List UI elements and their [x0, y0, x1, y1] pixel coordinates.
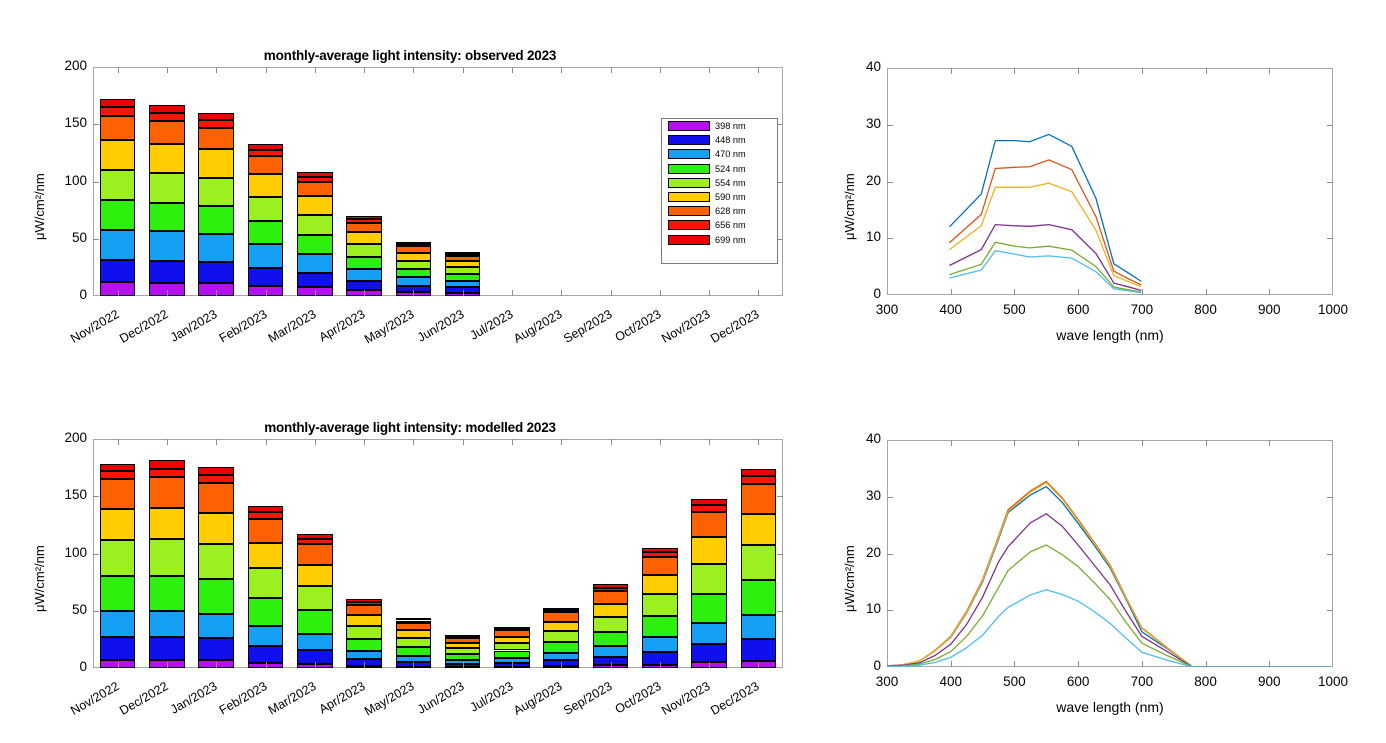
- bar-segment: [543, 642, 578, 652]
- bar-segment: [100, 509, 135, 540]
- x-tick-label: 400: [921, 302, 981, 317]
- x-tick-label: 400: [921, 674, 981, 689]
- bar-segment: [543, 653, 578, 660]
- x-tick-mark: [266, 439, 267, 445]
- bar-segment: [445, 252, 480, 254]
- bar-segment: [396, 261, 431, 270]
- y-tick-label: 50: [47, 602, 87, 617]
- x-tick-mark: [118, 439, 119, 445]
- bar-segment: [396, 647, 431, 656]
- bar-segment: [593, 632, 628, 646]
- bar-nov-2022[interactable]: [100, 67, 135, 296]
- bar-segment: [198, 234, 233, 263]
- bar-segment: [297, 182, 332, 196]
- bar-segment: [396, 630, 431, 638]
- bar-segment: [346, 232, 381, 244]
- bar-segment: [396, 656, 431, 662]
- bar-segment: [248, 174, 283, 197]
- x-tick-mark: [216, 290, 217, 296]
- bar-segment: [100, 116, 135, 140]
- bar-segment: [149, 576, 184, 611]
- y-tick-label: 20: [851, 545, 881, 560]
- legend-item[interactable]: 398 nm: [662, 119, 777, 133]
- bar-segment: [297, 254, 332, 273]
- bar-segment: [297, 177, 332, 182]
- bar-segment: [691, 505, 726, 511]
- bar-segment: [494, 637, 529, 643]
- bar-segment: [346, 223, 381, 232]
- y-tick-mark: [93, 124, 99, 125]
- series-line-february: [887, 481, 1333, 667]
- bar-segment: [741, 476, 776, 483]
- x-tick-mark: [611, 439, 612, 445]
- bar-segment: [198, 128, 233, 150]
- bar-may-2023[interactable]: [396, 67, 431, 296]
- bar-segment: [100, 230, 135, 260]
- modelled-y-axis-label: μW/cm²/nm: [32, 545, 47, 612]
- bar-segment: [691, 644, 726, 662]
- bar-segment: [741, 615, 776, 640]
- y-tick-label: 10: [851, 229, 881, 244]
- bar-segment: [445, 267, 480, 274]
- bar-segment: [741, 545, 776, 580]
- x-tick-mark: [118, 67, 119, 73]
- observed-chart-title: monthly-average light intensity: observe…: [0, 48, 820, 63]
- x-tick-mark: [709, 67, 710, 73]
- bar-segment: [198, 638, 233, 660]
- bar-segment: [396, 244, 431, 246]
- bar-segment: [100, 471, 135, 478]
- x-tick-mark: [216, 662, 217, 668]
- panel-observed-bar: monthly-average light intensity: observe…: [0, 0, 820, 372]
- y-tick-label: 30: [851, 488, 881, 503]
- x-tick-mark: [463, 67, 464, 73]
- x-tick-label: 300: [857, 302, 917, 317]
- panel-observed-spectra: μW/cm²/nm 010203040 30040050060070080090…: [820, 0, 1386, 372]
- bar-dec-2022[interactable]: [149, 439, 184, 668]
- legend-item[interactable]: 590 nm: [662, 190, 777, 204]
- bar-segment: [642, 575, 677, 594]
- x-tick-mark: [561, 67, 562, 73]
- bar-segment: [100, 170, 135, 200]
- bar-segment: [248, 519, 283, 544]
- legend-item[interactable]: 628 nm: [662, 204, 777, 218]
- x-tick-mark: [413, 662, 414, 668]
- y-tick-label: 100: [47, 173, 87, 188]
- x-tick-mark: [463, 290, 464, 296]
- x-tick-label: 600: [1048, 674, 1108, 689]
- legend-swatch: [668, 178, 710, 188]
- x-tick-label: Nov/2022: [36, 679, 121, 736]
- modelled-spectra-x-label: wave length (nm): [887, 699, 1333, 715]
- bar-segment: [149, 508, 184, 539]
- y-tick-mark: [777, 554, 783, 555]
- bar-segment: [691, 564, 726, 594]
- bar-segment: [149, 477, 184, 508]
- x-tick-mark: [413, 67, 414, 73]
- modelled-axes: [93, 439, 783, 668]
- bar-segment: [248, 543, 283, 568]
- bar-segment: [248, 512, 283, 518]
- bar-segment: [346, 651, 381, 660]
- y-tick-label: 100: [47, 545, 87, 560]
- bar-segment: [248, 150, 283, 156]
- x-tick-mark: [315, 67, 316, 73]
- bar-segment: [297, 273, 332, 287]
- bar-segment: [248, 598, 283, 626]
- bar-segment: [741, 484, 776, 514]
- legend-swatch: [668, 121, 710, 131]
- bar-segment: [198, 483, 233, 513]
- bar-segment: [445, 281, 480, 288]
- series-line-february: [949, 160, 1141, 285]
- bar-segment: [297, 534, 332, 539]
- legend-swatch: [668, 164, 710, 174]
- bar-apr-2023[interactable]: [346, 439, 381, 668]
- y-tick-label: 20: [851, 173, 881, 188]
- bar-segment: [445, 638, 480, 643]
- bar-segment: [346, 602, 381, 605]
- bar-segment: [396, 269, 431, 277]
- legend-item[interactable]: 524 nm: [662, 162, 777, 176]
- bar-segment: [198, 178, 233, 207]
- x-tick-mark: [463, 439, 464, 445]
- series-line-april: [887, 514, 1333, 667]
- bar-feb-2023[interactable]: [248, 67, 283, 296]
- x-tick-mark: [315, 439, 316, 445]
- bar-segment: [149, 539, 184, 576]
- x-tick-mark: [216, 439, 217, 445]
- x-tick-mark: [561, 290, 562, 296]
- bar-segment: [297, 196, 332, 215]
- x-tick-label: 300: [857, 674, 917, 689]
- bar-segment: [248, 646, 283, 664]
- x-tick-mark: [512, 290, 513, 296]
- x-tick-label: 900: [1239, 674, 1299, 689]
- bar-segment: [543, 631, 578, 642]
- legend-item[interactable]: 554 nm: [662, 176, 777, 190]
- bar-segment: [593, 588, 628, 591]
- bar-segment: [149, 113, 184, 121]
- bar-segment: [346, 269, 381, 282]
- legend-label: 470 nm: [715, 149, 746, 159]
- legend-label: 448 nm: [715, 135, 746, 145]
- bar-apr-2023[interactable]: [346, 67, 381, 296]
- bar-segment: [346, 605, 381, 615]
- bar-segment: [543, 612, 578, 621]
- bar-segment: [396, 621, 431, 623]
- bar-segment: [248, 626, 283, 646]
- bar-segment: [198, 120, 233, 127]
- y-tick-label: 0: [851, 286, 881, 301]
- bar-segment: [396, 623, 431, 630]
- legend-item[interactable]: 656 nm: [662, 218, 777, 232]
- bar-segment: [297, 634, 332, 651]
- bar-segment: [741, 580, 776, 614]
- bar-segment: [297, 215, 332, 234]
- x-tick-mark: [364, 439, 365, 445]
- bar-segment: [198, 149, 233, 177]
- bar-segment: [248, 244, 283, 268]
- legend-label: 699 nm: [715, 235, 746, 245]
- x-tick-mark: [660, 439, 661, 445]
- x-tick-mark: [167, 439, 168, 445]
- x-tick-label: 500: [984, 674, 1044, 689]
- x-tick-mark: [266, 662, 267, 668]
- x-tick-mark: [315, 290, 316, 296]
- y-tick-label: 150: [47, 115, 87, 130]
- bar-segment: [198, 513, 233, 544]
- bar-segment: [642, 637, 677, 652]
- x-tick-mark: [758, 439, 759, 445]
- x-tick-mark: [118, 662, 119, 668]
- bar-segment: [593, 591, 628, 604]
- bar-segment: [642, 557, 677, 575]
- bar-segment: [297, 565, 332, 586]
- bar-segment: [100, 540, 135, 576]
- x-tick-label: 600: [1048, 302, 1108, 317]
- bar-sep-2023[interactable]: [593, 439, 628, 668]
- bar-segment: [198, 614, 233, 639]
- bar-segment: [346, 615, 381, 626]
- bar-feb-2023[interactable]: [248, 439, 283, 668]
- bar-segment: [149, 231, 184, 261]
- bar-segment: [642, 616, 677, 637]
- bar-nov-2022[interactable]: [100, 439, 135, 668]
- y-tick-label: 30: [851, 116, 881, 131]
- series-line-may: [887, 545, 1333, 667]
- bar-segment: [198, 475, 233, 482]
- legend-label: 628 nm: [715, 206, 746, 216]
- legend-label: 554 nm: [715, 178, 746, 188]
- y-tick-label: 10: [851, 601, 881, 616]
- bar-segment: [691, 594, 726, 623]
- bar-segment: [149, 203, 184, 232]
- bar-jan-2023[interactable]: [198, 67, 233, 296]
- bar-segment: [593, 646, 628, 656]
- observed-y-axis-label: μW/cm²/nm: [32, 173, 47, 240]
- panel-modelled-spectra: μW/cm²/nm 010203040 30040050060070080090…: [820, 372, 1386, 743]
- y-tick-label: 150: [47, 487, 87, 502]
- bar-segment: [100, 576, 135, 611]
- bar-segment: [297, 586, 332, 610]
- y-tick-label: 0: [851, 658, 881, 673]
- bar-segment: [396, 277, 431, 286]
- bar-segment: [100, 107, 135, 116]
- legend-swatch: [668, 206, 710, 216]
- bar-segment: [445, 256, 480, 261]
- series-line-june: [887, 590, 1333, 667]
- bar-mar-2023[interactable]: [297, 439, 332, 668]
- bar-mar-2023[interactable]: [297, 67, 332, 296]
- bar-segment: [396, 246, 431, 252]
- bar-segment: [691, 512, 726, 538]
- bar-segment: [396, 618, 431, 620]
- bar-segment: [445, 654, 480, 660]
- bar-segment: [445, 643, 480, 648]
- x-tick-mark: [167, 290, 168, 296]
- bar-jan-2023[interactable]: [198, 439, 233, 668]
- legend-swatch: [668, 220, 710, 230]
- bar-segment: [149, 637, 184, 660]
- x-tick-mark: [118, 290, 119, 296]
- bar-segment: [297, 235, 332, 254]
- x-tick-mark: [167, 662, 168, 668]
- bar-segment: [741, 514, 776, 545]
- x-tick-mark: [561, 662, 562, 668]
- bar-segment: [297, 539, 332, 544]
- x-tick-mark: [660, 290, 661, 296]
- bar-segment: [198, 262, 233, 283]
- legend-label: 398 nm: [715, 121, 746, 131]
- legend-swatch: [668, 235, 710, 245]
- bar-segment: [741, 469, 776, 476]
- bar-segment: [198, 579, 233, 613]
- y-tick-label: 200: [47, 58, 87, 73]
- bar-segment: [741, 639, 776, 660]
- series-line-january: [949, 134, 1141, 281]
- x-tick-label: 700: [1112, 302, 1172, 317]
- bar-segment: [149, 121, 184, 144]
- bar-segment: [346, 244, 381, 257]
- bar-may-2023[interactable]: [396, 439, 431, 668]
- x-tick-mark: [413, 290, 414, 296]
- x-tick-mark: [364, 662, 365, 668]
- bar-jun-2023[interactable]: [445, 439, 480, 668]
- bar-segment: [149, 173, 184, 203]
- bar-segment: [346, 216, 381, 219]
- x-tick-label: 500: [984, 302, 1044, 317]
- y-tick-mark: [93, 239, 99, 240]
- y-tick-label: 0: [47, 659, 87, 674]
- x-tick-label: 700: [1112, 674, 1172, 689]
- x-tick-mark: [512, 439, 513, 445]
- x-tick-mark: [611, 290, 612, 296]
- x-tick-mark: [758, 67, 759, 73]
- modelled-chart-title: monthly-average light intensity: modelle…: [0, 420, 820, 435]
- panel-modelled-bar: monthly-average light intensity: modelle…: [0, 372, 820, 743]
- y-tick-mark: [777, 496, 783, 497]
- x-tick-mark: [364, 290, 365, 296]
- x-tick-mark: [216, 67, 217, 73]
- bar-segment: [346, 626, 381, 639]
- x-tick-mark: [561, 439, 562, 445]
- bar-nov-2023[interactable]: [691, 439, 726, 668]
- bar-segment: [642, 594, 677, 616]
- bar-segment: [149, 611, 184, 637]
- bar-segment: [248, 156, 283, 174]
- bar-aug-2023[interactable]: [543, 439, 578, 668]
- x-tick-label: 800: [1176, 302, 1236, 317]
- bar-segment: [593, 604, 628, 617]
- bar-oct-2023[interactable]: [642, 439, 677, 668]
- x-tick-mark: [167, 67, 168, 73]
- x-tick-mark: [315, 662, 316, 668]
- y-tick-mark: [93, 554, 99, 555]
- legend-swatch: [668, 149, 710, 159]
- legend-label: 656 nm: [715, 220, 746, 230]
- bar-segment: [198, 113, 233, 120]
- bar-segment: [543, 610, 578, 612]
- bar-segment: [100, 464, 135, 471]
- bar-segment: [445, 254, 480, 256]
- bar-segment: [593, 617, 628, 632]
- bar-segment: [149, 469, 184, 477]
- x-tick-mark: [413, 439, 414, 445]
- bar-segment: [248, 144, 283, 150]
- bar-segment: [100, 611, 135, 637]
- observed-wavelength-legend[interactable]: 398 nm448 nm470 nm524 nm554 nm590 nm628 …: [661, 118, 778, 264]
- bar-segment: [100, 479, 135, 509]
- x-tick-mark: [266, 290, 267, 296]
- bar-segment: [297, 544, 332, 565]
- bar-segment: [445, 274, 480, 280]
- x-tick-mark: [660, 67, 661, 73]
- legend-item[interactable]: 699 nm: [662, 233, 777, 247]
- x-tick-mark: [364, 67, 365, 73]
- bar-segment: [297, 172, 332, 177]
- legend-label: 590 nm: [715, 192, 746, 202]
- legend-item[interactable]: 448 nm: [662, 133, 777, 147]
- bar-segment: [593, 584, 628, 587]
- legend-swatch: [668, 135, 710, 145]
- bar-segment: [100, 637, 135, 660]
- bar-jul-2023[interactable]: [494, 439, 529, 668]
- bar-segment: [346, 219, 381, 222]
- bar-dec-2022[interactable]: [149, 67, 184, 296]
- legend-swatch: [668, 192, 710, 202]
- bar-segment: [346, 599, 381, 602]
- x-tick-mark: [512, 662, 513, 668]
- bar-jun-2023[interactable]: [445, 67, 480, 296]
- x-tick-mark: [709, 290, 710, 296]
- x-tick-mark: [463, 662, 464, 668]
- bar-segment: [248, 197, 283, 221]
- bar-segment: [100, 99, 135, 108]
- y-tick-label: 40: [851, 59, 881, 74]
- bar-segment: [445, 648, 480, 654]
- y-tick-mark: [93, 611, 99, 612]
- observed-spectra-lines: [887, 68, 1333, 295]
- y-tick-mark: [777, 611, 783, 612]
- bar-segment: [198, 467, 233, 475]
- bar-segment: [494, 628, 529, 630]
- bar-segment: [346, 639, 381, 651]
- y-tick-mark: [93, 182, 99, 183]
- bar-segment: [494, 651, 529, 658]
- bar-segment: [248, 268, 283, 286]
- bar-segment: [445, 635, 480, 637]
- bar-dec-2023[interactable]: [741, 439, 776, 668]
- legend-label: 524 nm: [715, 164, 746, 174]
- bar-segment: [248, 221, 283, 244]
- bar-segment: [346, 257, 381, 269]
- bar-segment: [100, 200, 135, 229]
- bar-segment: [346, 281, 381, 290]
- legend-item[interactable]: 470 nm: [662, 147, 777, 161]
- bar-segment: [396, 638, 431, 647]
- x-tick-mark: [512, 67, 513, 73]
- x-tick-label: Nov/2022: [36, 307, 121, 364]
- bar-segment: [691, 499, 726, 505]
- bar-segment: [100, 140, 135, 170]
- bar-segment: [248, 506, 283, 512]
- bar-segment: [297, 610, 332, 633]
- x-tick-mark: [611, 662, 612, 668]
- y-tick-label: 50: [47, 230, 87, 245]
- bar-segment: [494, 630, 529, 636]
- bar-segment: [445, 261, 480, 267]
